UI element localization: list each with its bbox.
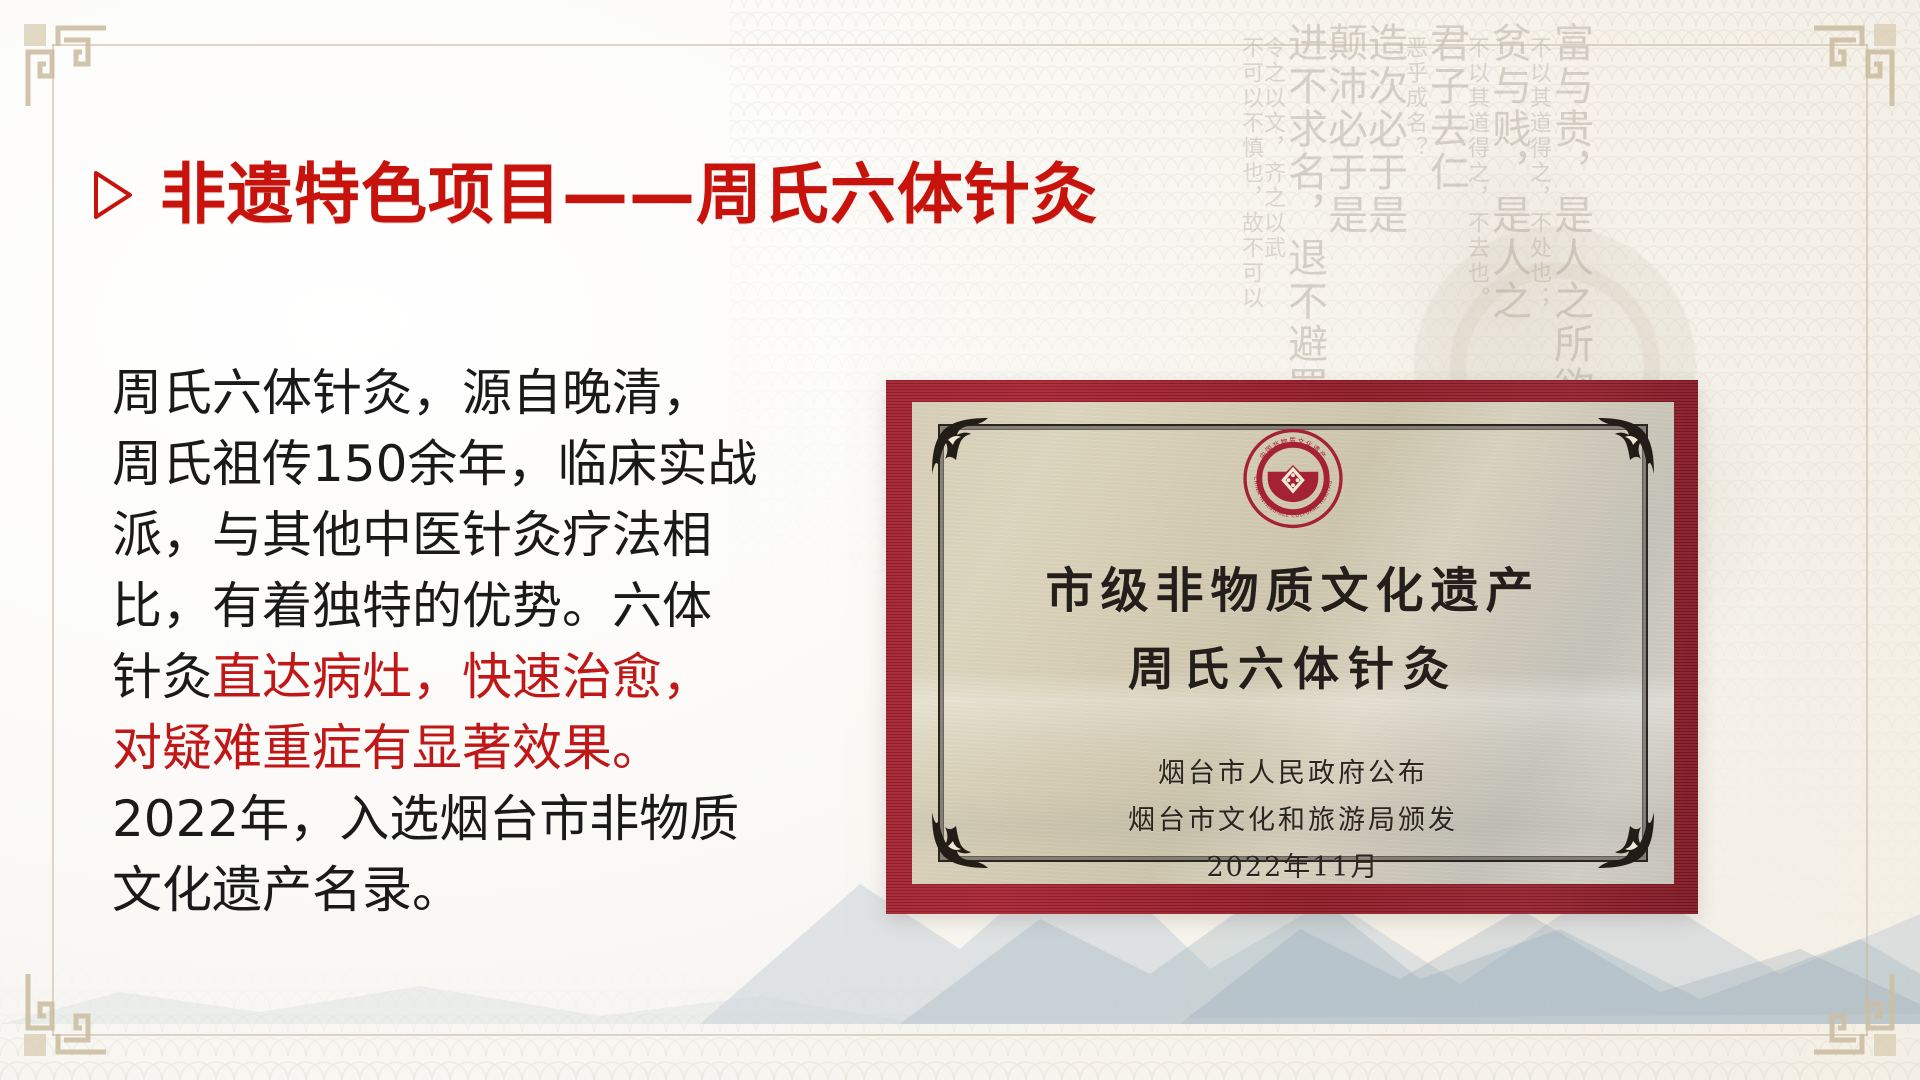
plaque-issuer-line2: 烟台市文化和旅游局颁发 (1128, 798, 1458, 837)
greek-key-corner-icon (18, 18, 110, 110)
slide-canvas: 富与贵，是人之所欲 不以其道得之，不处也； 贫与贱，是人之 不以其道得之，不去也… (0, 0, 1920, 1080)
body-line: 2022年，入选烟台市非物质 (112, 784, 872, 855)
greek-key-corner-icon (1810, 18, 1902, 110)
body-span: 比，有着独特的优势。六体 (112, 577, 712, 635)
greek-key-corner-icon (18, 970, 110, 1062)
plaque-title-line2: 周氏六体针灸 (1128, 633, 1458, 699)
body-line: 周氏祖传150余年，临床实战 (112, 429, 872, 500)
body-line: 对疑难重症有显著效果。 (112, 713, 872, 784)
frame-border-top (52, 44, 1868, 46)
body-line: 周氏六体针灸，源自晚清， (112, 358, 872, 429)
bottom-scallop-pattern (0, 960, 1920, 1080)
body-span: 周氏祖传150余年，临床实战 (112, 435, 757, 493)
greek-key-corner-icon (1810, 970, 1902, 1062)
body-span: 周氏六体针灸，源自晚清， (112, 364, 712, 422)
body-line: 文化遗产名录。 (112, 855, 872, 926)
award-plaque-image: 中国非物质文化遗产 CHINA INTANGIBLE CULTURAL HERI… (886, 380, 1698, 914)
body-line: 针灸直达病灶，快速治愈， (112, 642, 872, 713)
china-intangible-cultural-heritage-emblem-icon: 中国非物质文化遗产 CHINA INTANGIBLE CULTURAL HERI… (1240, 428, 1346, 529)
frame-border-bottom (52, 1034, 1868, 1036)
page-title: 非遗特色项目——周氏六体针灸 (160, 160, 1098, 229)
frame-border-right (1866, 44, 1868, 1036)
slide-title-row: 非遗特色项目——周氏六体针灸 (92, 160, 1098, 229)
plaque-metal-plate: 中国非物质文化遗产 CHINA INTANGIBLE CULTURAL HERI… (912, 402, 1674, 884)
arrow-bullet-icon (92, 169, 134, 221)
body-line: 比，有着独特的优势。六体 (112, 571, 872, 642)
body-span-highlight: 直达病灶，快速治愈， (212, 648, 712, 706)
plaque-date: 2022年11月 (1206, 845, 1379, 884)
body-span: 针灸 (112, 648, 212, 706)
body-span: 2022年，入选烟台市非物质 (112, 790, 739, 848)
body-span-highlight: 对疑难重症有显著效果。 (112, 719, 662, 777)
plaque-issuer-line1: 烟台市人民政府公布 (1158, 751, 1428, 790)
body-span: 文化遗产名录。 (112, 861, 462, 919)
body-line: 派，与其他中医针灸疗法相 (112, 500, 872, 571)
plaque-title-line1: 市级非物质文化遗产 (1045, 551, 1540, 621)
frame-border-left (52, 44, 54, 1036)
body-paragraph: 周氏六体针灸，源自晚清， 周氏祖传150余年，临床实战 派，与其他中医针灸疗法相… (112, 358, 872, 926)
body-span: 派，与其他中医针灸疗法相 (112, 506, 712, 564)
